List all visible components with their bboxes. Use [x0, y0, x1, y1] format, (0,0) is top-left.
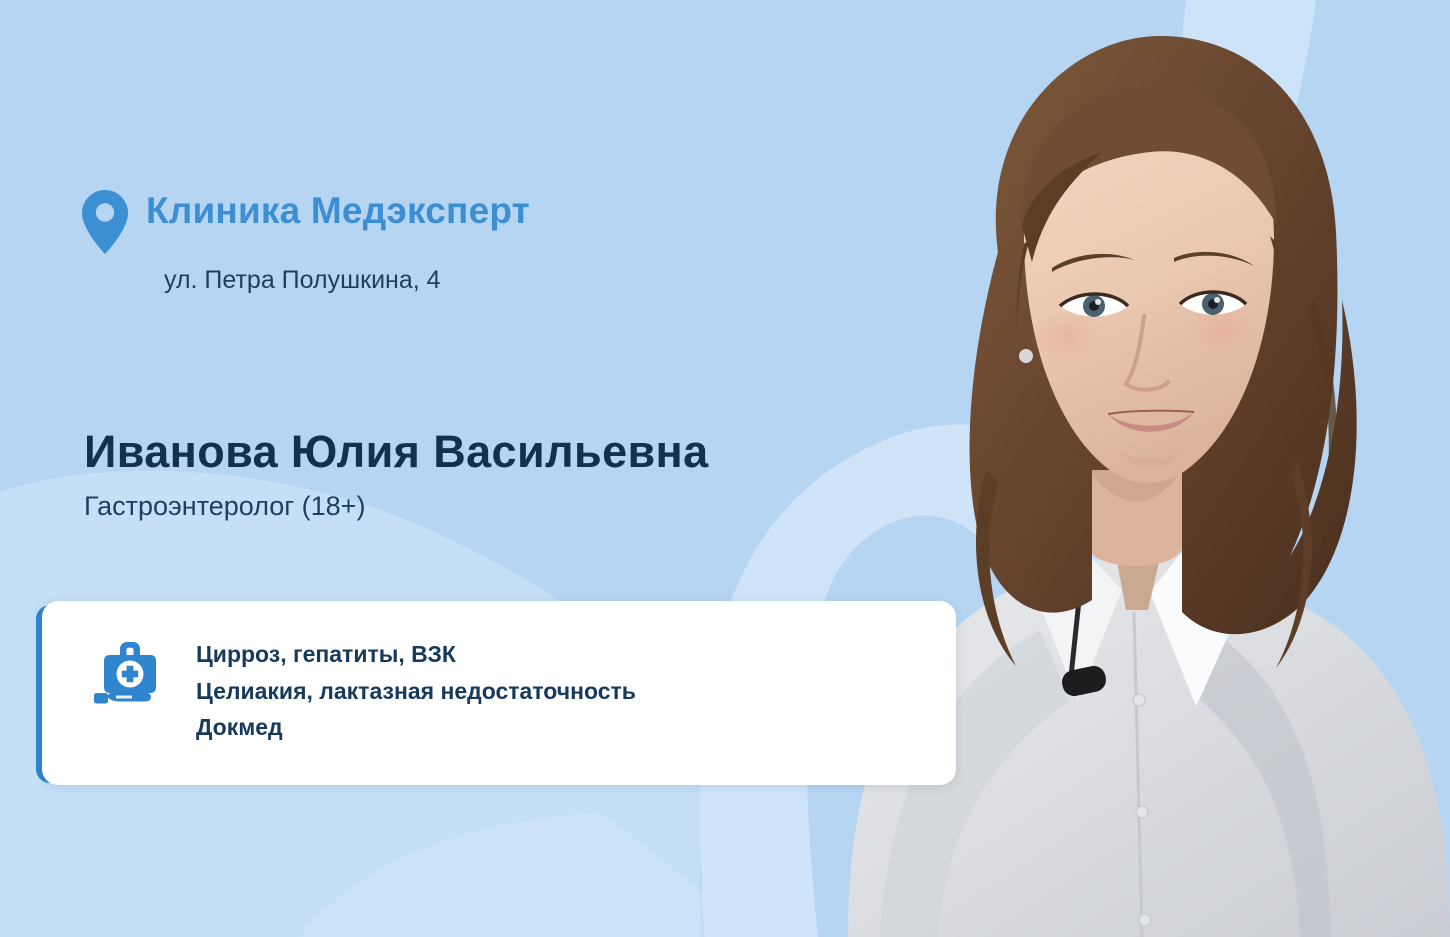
clinic-name-row: Клиника Медэксперт — [82, 188, 530, 254]
clinic-block: Клиника Медэксперт ул. Петра Полушкина, … — [82, 188, 530, 295]
info-card-lines: Цирроз, гепатиты, ВЗК Целиакия, лактазна… — [196, 631, 636, 744]
location-pin-icon — [82, 190, 128, 254]
info-card-content: Цирроз, гепатиты, ВЗК Целиакия, лактазна… — [92, 631, 936, 767]
info-card-wrapper: Цирроз, гепатиты, ВЗК Целиакия, лактазна… — [36, 601, 956, 787]
doctor-block: Иванова Юлия Васильевна Гастроэнтеролог … — [84, 428, 709, 522]
info-card-line: Докмед — [196, 712, 636, 744]
doctor-specialty: Гастроэнтеролог (18+) — [84, 491, 709, 522]
doctor-profile-banner: Клиника Медэксперт ул. Петра Полушкина, … — [0, 0, 1450, 937]
medical-bag-in-hand-icon — [92, 639, 168, 715]
clinic-name: Клиника Медэксперт — [146, 188, 530, 231]
info-card-line: Цирроз, гепатиты, ВЗК — [196, 639, 636, 671]
info-card: Цирроз, гепатиты, ВЗК Целиакия, лактазна… — [42, 601, 956, 785]
doctor-photo — [730, 0, 1450, 937]
info-card-line: Целиакия, лактазная недостаточность — [196, 676, 636, 708]
clinic-address: ул. Петра Полушкина, 4 — [164, 266, 530, 295]
doctor-name: Иванова Юлия Васильевна — [84, 428, 709, 475]
